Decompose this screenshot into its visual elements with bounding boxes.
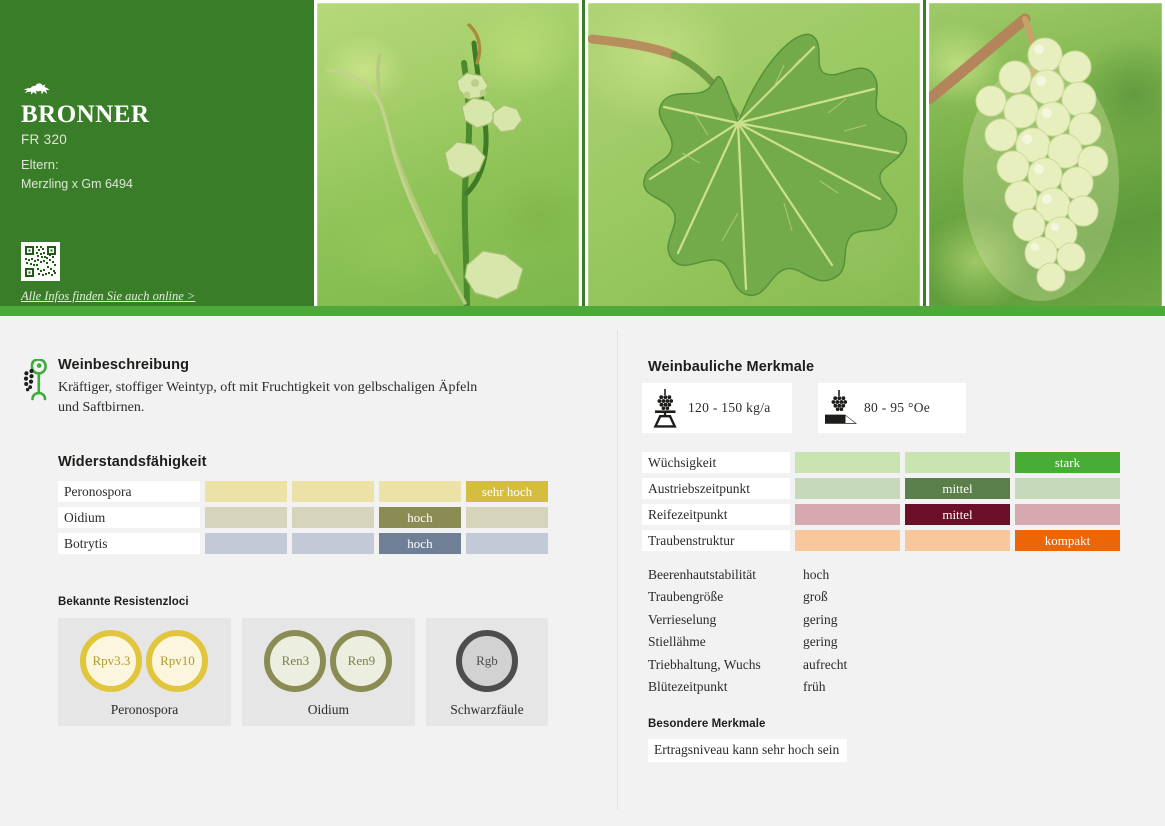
resistance-loci-groups: Rpv3.3Rpv10PeronosporaRen3Ren9OidiumRgbS… — [58, 618, 548, 726]
property-row: Stiellähmegering — [648, 631, 1068, 653]
rating-segment — [205, 481, 287, 502]
loci-circle-row: Rpv3.3Rpv10 — [80, 630, 208, 692]
variety-datasheet: BRONNER FR 320 Eltern: Merzling x Gm 649… — [0, 0, 1165, 826]
rating-segment-active: sehr hoch — [466, 481, 548, 502]
property-value: groß — [803, 586, 828, 608]
rating-segment — [905, 452, 1010, 473]
photo-grape-cluster — [926, 0, 1165, 308]
parents-value: Merzling x Gm 6494 — [21, 177, 133, 191]
rating-segment — [1015, 504, 1120, 525]
property-value: gering — [803, 609, 838, 631]
right-column: Weinbauliche Merkmale — [600, 316, 1165, 826]
left-column: Weinbeschreibung Kräftiger, stoffiger We… — [0, 316, 600, 826]
resistance-bar-list: Peronosporasehr hochOidiumhochBotrytisho… — [58, 481, 548, 554]
photo-vine-shoot — [314, 0, 582, 308]
online-info-link[interactable]: Alle Infos finden Sie auch online > — [21, 289, 195, 304]
rating-segment — [795, 504, 900, 525]
loci-group-caption: Oidium — [308, 702, 349, 718]
wine-glass-grapes-icon — [20, 359, 58, 406]
special-feature-item: Ertragsniveau kann sehr hoch sein — [648, 739, 847, 762]
rating-segment — [795, 452, 900, 473]
loci-group-caption: Schwarzfäule — [450, 702, 523, 718]
accent-divider-bar — [0, 306, 1165, 316]
rating-segment — [795, 530, 900, 551]
viticulture-properties: BeerenhautstabilitäthochTraubengrößegroß… — [648, 564, 1068, 698]
resistance-loci-title: Bekannte Resistenzloci — [58, 596, 548, 608]
rating-segment-active: stark — [1015, 452, 1120, 473]
locus-badge: Ren3 — [264, 630, 326, 692]
resistance-loci-group: Ren3Ren9Oidium — [242, 618, 415, 726]
locus-badge: Rpv10 — [146, 630, 208, 692]
wine-description-text: Kräftiger, stoffiger Weintyp, oft mit Fr… — [58, 378, 490, 419]
rating-row: Peronosporasehr hoch — [58, 481, 548, 502]
rating-row-label: Wüchsigkeit — [642, 452, 790, 473]
property-row: Blütezeitpunktfrüh — [648, 676, 1068, 698]
resistance-loci-group: Rpv3.3Rpv10Peronospora — [58, 618, 231, 726]
resistance-loci-group: RgbSchwarzfäule — [426, 618, 548, 726]
loci-group-caption: Peronospora — [111, 702, 179, 718]
property-row: Beerenhautstabilitäthoch — [648, 564, 1068, 586]
special-features-title: Besondere Merkmale — [648, 718, 1078, 730]
variety-code: FR 320 — [21, 132, 67, 147]
rating-segment — [205, 533, 287, 554]
rating-row: Wüchsigkeitstark — [642, 452, 1142, 473]
rating-segment — [905, 530, 1010, 551]
page-title: BRONNER — [21, 102, 150, 127]
rating-segment — [379, 481, 461, 502]
photo-grape-leaf — [585, 0, 923, 308]
property-row: Triebhaltung, Wuchsaufrecht — [648, 654, 1068, 676]
measure-yield: 120 - 150 kg/a — [642, 383, 792, 433]
rating-row: Oidiumhoch — [58, 507, 548, 528]
rating-segment — [466, 507, 548, 528]
viticulture-measures: 120 - 150 kg/a — [642, 383, 966, 433]
rating-row: Traubenstrukturkompakt — [642, 530, 1142, 551]
locus-badge: Rpv3.3 — [80, 630, 142, 692]
measure-must-weight-value: 80 - 95 °Oe — [864, 400, 930, 416]
property-row: Traubengrößegroß — [648, 586, 1068, 608]
rating-segment — [205, 507, 287, 528]
rating-row: Reifezeitpunktmittel — [642, 504, 1142, 525]
locus-badge: Rgb — [456, 630, 518, 692]
rating-row: Botrytishoch — [58, 533, 548, 554]
property-key: Beerenhautstabilität — [648, 564, 803, 586]
rating-segment — [292, 481, 374, 502]
property-value: hoch — [803, 564, 829, 586]
property-key: Verrieselung — [648, 609, 803, 631]
loci-circle-row: Rgb — [456, 630, 518, 692]
property-value: aufrecht — [803, 654, 847, 676]
resistance-title: Widerstandsfähigkeit — [58, 454, 548, 470]
property-row: Verrieselunggering — [648, 609, 1068, 631]
locus-badge: Ren9 — [330, 630, 392, 692]
loci-circle-row: Ren3Ren9 — [264, 630, 392, 692]
rating-row-label: Austriebszeitpunkt — [642, 478, 790, 499]
property-key: Traubengröße — [648, 586, 803, 608]
property-key: Blütezeitpunkt — [648, 676, 803, 698]
property-value: früh — [803, 676, 826, 698]
rating-segment — [466, 533, 548, 554]
rating-segment-active: kompakt — [1015, 530, 1120, 551]
rating-segment — [795, 478, 900, 499]
qr-code-icon[interactable] — [21, 242, 60, 281]
rating-row-label: Oidium — [58, 507, 200, 528]
rating-row-label: Reifezeitpunkt — [642, 504, 790, 525]
rating-row: Austriebszeitpunktmittel — [642, 478, 1142, 499]
viticulture-bar-list: WüchsigkeitstarkAustriebszeitpunktmittel… — [642, 452, 1142, 551]
rating-row-label: Traubenstruktur — [642, 530, 790, 551]
rating-segment-active: mittel — [905, 504, 1010, 525]
rating-row-label: Peronospora — [58, 481, 200, 502]
grape-must-weight-icon — [818, 388, 864, 428]
special-features-list: Ertragsniveau kann sehr hoch sein — [648, 739, 1078, 762]
measure-must-weight: 80 - 95 °Oe — [818, 383, 966, 433]
header-banner: BRONNER FR 320 Eltern: Merzling x Gm 649… — [0, 0, 1165, 316]
rating-segment-active: hoch — [379, 533, 461, 554]
property-value: gering — [803, 631, 838, 653]
parents-label: Eltern: — [21, 157, 59, 172]
property-key: Stiellähme — [648, 631, 803, 653]
rating-segment — [292, 533, 374, 554]
measure-yield-value: 120 - 150 kg/a — [688, 400, 771, 416]
grape-yield-scale-icon — [642, 388, 688, 428]
rating-segment — [292, 507, 374, 528]
rating-segment-active: mittel — [905, 478, 1010, 499]
viticulture-title: Weinbauliche Merkmale — [648, 359, 1138, 375]
rating-segment-active: hoch — [379, 507, 461, 528]
lion-crest-icon — [22, 80, 52, 98]
rating-row-label: Botrytis — [58, 533, 200, 554]
wine-description-title: Weinbeschreibung — [58, 357, 490, 373]
rating-segment — [1015, 478, 1120, 499]
property-key: Triebhaltung, Wuchs — [648, 654, 803, 676]
